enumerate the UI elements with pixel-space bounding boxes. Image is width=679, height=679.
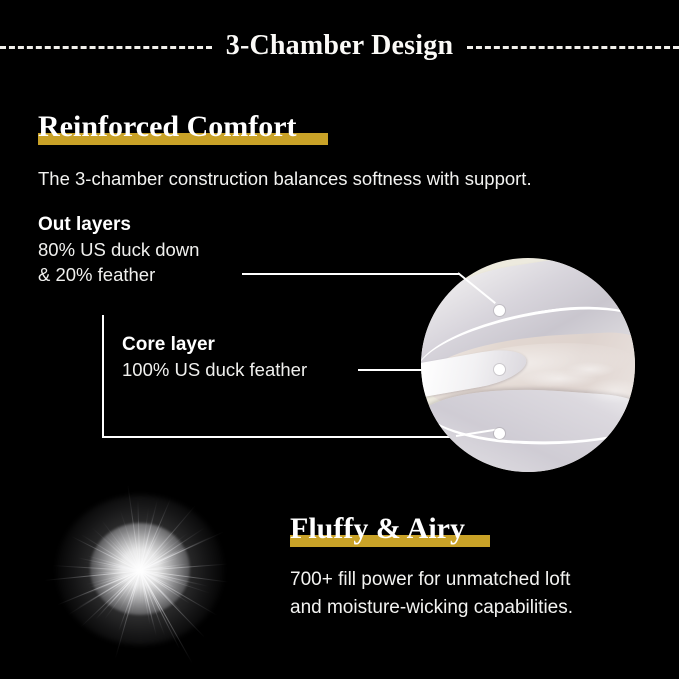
section-heading-fluffy: Fluffy & Airy xyxy=(290,514,465,544)
marker-dot-outer-bottom xyxy=(494,428,505,439)
callout-core-layer: Core layer 100% US duck feather xyxy=(122,333,307,382)
section-heading-comfort: Reinforced Comfort xyxy=(38,112,297,142)
infographic-page: 3-Chamber Design Reinforced Comfort The … xyxy=(0,0,679,679)
callout-core-layer-detail: 100% US duck feather xyxy=(122,357,307,382)
section-heading-comfort-label: Reinforced Comfort xyxy=(38,110,297,143)
connector-bracket-horizontal xyxy=(102,436,457,438)
header: 3-Chamber Design xyxy=(0,26,679,66)
header-dashed-rule-left xyxy=(0,46,212,49)
callout-outer-layers: Out layers 80% US duck down & 20% feathe… xyxy=(38,213,199,287)
down-cluster-illustration xyxy=(40,485,240,655)
callout-core-layer-title: Core layer xyxy=(122,333,307,357)
marker-dot-core xyxy=(494,364,505,375)
comfort-description: The 3-chamber construction balances soft… xyxy=(38,166,638,192)
page-title: 3-Chamber Design xyxy=(212,30,467,62)
three-chamber-cutaway-illustration xyxy=(421,258,635,472)
connector-line-outer xyxy=(242,273,460,275)
section-heading-fluffy-label: Fluffy & Airy xyxy=(290,512,465,545)
callout-outer-layers-detail: 80% US duck down & 20% feather xyxy=(38,237,199,287)
marker-dot-outer-top xyxy=(494,305,505,316)
callout-outer-layers-title: Out layers xyxy=(38,213,199,237)
connector-bracket-vertical xyxy=(102,315,104,438)
fluffy-description: 700+ fill power for unmatched loft and m… xyxy=(290,566,660,622)
header-dashed-rule-right xyxy=(467,46,679,49)
